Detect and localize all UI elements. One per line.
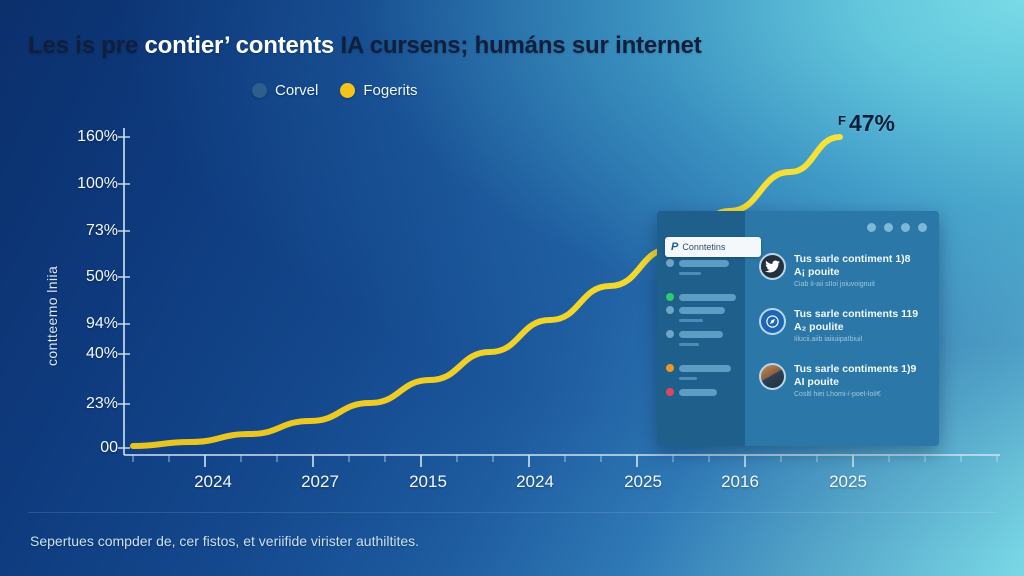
- card-sidebar-item[interactable]: [666, 330, 736, 338]
- x-axis-tick-marks: [133, 455, 997, 467]
- card-feed-meta: Iilucii.aiib iaiiuiipaIbiuiI: [794, 335, 918, 346]
- y-axis-tick-label: 40%: [86, 345, 118, 363]
- y-axis-tick-label: 00: [100, 439, 118, 457]
- card-sidebar-item[interactable]: [666, 388, 736, 396]
- chart-canvas: Les is pre contier’ contents IA cursens;…: [0, 0, 1024, 576]
- y-axis-tick-label: 160%: [77, 128, 118, 146]
- card-feed-item[interactable]: Tus sarle contiment 1)8A¡ pouiteCiab iI-…: [759, 253, 931, 291]
- window-dots: [867, 223, 927, 232]
- twitter-bird-icon: [759, 253, 786, 280]
- x-axis-tick-label: 2016: [721, 472, 759, 492]
- card-sidebar-subline: [679, 319, 703, 322]
- card-main-panel: Tus sarle contiment 1)8A¡ pouiteCiab iI-…: [745, 211, 939, 446]
- card-sidebar-subline: [679, 272, 701, 275]
- y-axis-tick-labels: 160%100%73%50%94%40%23%00: [40, 0, 118, 576]
- card-search-text: Conntetins: [682, 242, 725, 252]
- card-feed-subtitle: AI pouite: [794, 376, 916, 389]
- card-sidebar-status-icon: [666, 259, 674, 267]
- card-sidebar-subline: [679, 377, 697, 380]
- card-sidebar-placeholder-bar: [679, 331, 723, 338]
- card-feed-title: Tus sarle contiments 1)9: [794, 363, 916, 376]
- card-feed-subtitle: A¡ pouite: [794, 266, 911, 279]
- card-feed-text: Tus sarle contiment 1)8A¡ pouiteCiab iI-…: [794, 253, 911, 291]
- card-sidebar-spacer: [666, 283, 736, 293]
- card-feed-list[interactable]: Tus sarle contiment 1)8A¡ pouiteCiab iI-…: [759, 253, 931, 417]
- card-sidebar-status-icon: [666, 388, 674, 396]
- x-axis-tick-label: 2025: [829, 472, 867, 492]
- compass-icon: [759, 308, 786, 335]
- card-feed-title: Tus sarle contiments 119: [794, 308, 918, 321]
- footer-divider: [28, 512, 996, 513]
- card-feed-meta: Cosltl hiei Lhomi-/-poeI-loiI€: [794, 390, 916, 401]
- footer-caption: Sepertues compder de, cer fistos, et ver…: [30, 533, 419, 549]
- search-icon: P: [671, 241, 678, 253]
- endpoint-annotation-value: 47%: [849, 110, 895, 136]
- x-axis-tick-label: 2025: [624, 472, 662, 492]
- y-axis-tick-label: 94%: [86, 315, 118, 333]
- card-sidebar-spacer: [666, 354, 736, 364]
- card-sidebar-placeholder-bar: [679, 260, 729, 267]
- card-sidebar-subline: [679, 343, 699, 346]
- card-sidebar-placeholder-bar: [679, 294, 736, 301]
- card-feed-item[interactable]: Tus sarle contiments 119A₂ pouliteIiluci…: [759, 308, 931, 346]
- x-axis-tick-label: 2024: [194, 472, 232, 492]
- card-feed-text: Tus sarle contiments 1)9AI pouiteCosltl …: [794, 363, 916, 401]
- y-axis-tick-label: 100%: [77, 175, 118, 193]
- card-sidebar-placeholder-bar: [679, 365, 731, 372]
- card-sidebar-placeholder-bar: [679, 307, 725, 314]
- endpoint-annotation: F47%: [838, 110, 895, 137]
- card-sidebar-placeholder-bar: [679, 389, 717, 396]
- inset-app-card[interactable]: Tus sarle contiment 1)8A¡ pouiteCiab iI-…: [657, 211, 939, 446]
- user-photo-icon: [759, 363, 786, 390]
- y-axis-tick-label: 73%: [86, 222, 118, 240]
- card-sidebar-status-icon: [666, 364, 674, 372]
- window-dot-icon: [884, 223, 893, 232]
- x-axis-tick-label: 2024: [516, 472, 554, 492]
- card-feed-meta: Ciab iI-aii sIIoi joiuvoignuit: [794, 280, 911, 291]
- card-feed-subtitle: A₂ poulite: [794, 321, 918, 334]
- card-feed-title: Tus sarle contiment 1)8: [794, 253, 911, 266]
- card-sidebar-status-icon: [666, 306, 674, 314]
- card-sidebar-item[interactable]: [666, 364, 736, 372]
- y-axis-tick-label: 23%: [86, 395, 118, 413]
- window-dot-icon: [918, 223, 927, 232]
- card-sidebar-item[interactable]: [666, 293, 736, 301]
- card-feed-text: Tus sarle contiments 119A₂ pouliteIiluci…: [794, 308, 918, 346]
- card-sidebar-item[interactable]: [666, 259, 736, 267]
- card-feed-item[interactable]: Tus sarle contiments 1)9AI pouiteCosltl …: [759, 363, 931, 401]
- x-axis-tick-label: 2027: [301, 472, 339, 492]
- endpoint-annotation-prefix: F: [838, 113, 846, 128]
- card-sidebar-status-icon: [666, 293, 674, 301]
- card-sidebar-item[interactable]: [666, 306, 736, 314]
- x-axis-tick-label: 2015: [409, 472, 447, 492]
- y-axis-tick-label: 50%: [86, 268, 118, 286]
- card-sidebar-status-icon: [666, 330, 674, 338]
- card-search-field[interactable]: P Conntetins: [665, 237, 761, 257]
- window-dot-icon: [867, 223, 876, 232]
- window-dot-icon: [901, 223, 910, 232]
